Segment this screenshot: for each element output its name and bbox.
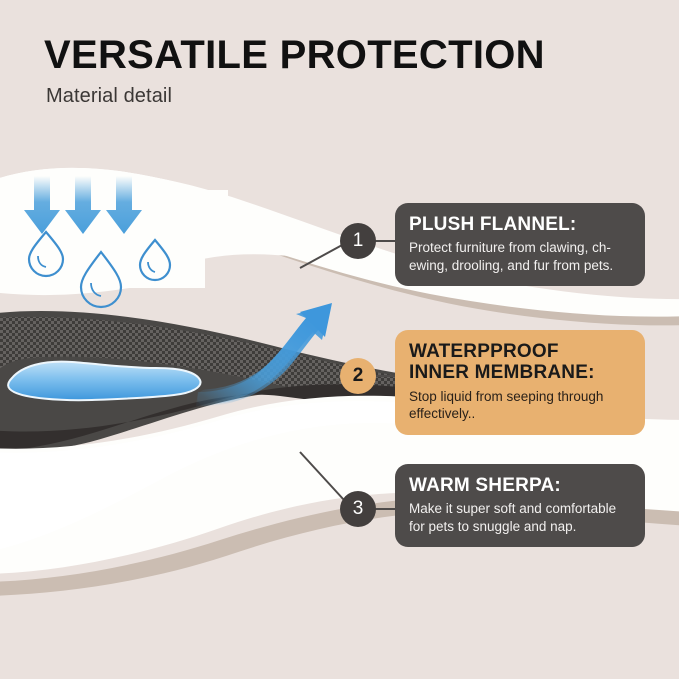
callout-body-2-line-2: effectively.. [409, 406, 475, 421]
step-badge-1[interactable]: 1 [340, 223, 376, 259]
callout-card-plush-flannel[interactable]: PLUSH FLANNEL: Protect furniture from cl… [395, 203, 645, 286]
callout-title-2-line-2: INNER MEMBRANE: [409, 362, 631, 383]
step-badge-2[interactable]: 2 [340, 358, 376, 394]
callout-title-2-line-1: WATERPPROOF [409, 341, 631, 362]
infographic-canvas: VERSATILE PROTECTION Material detail [0, 0, 679, 679]
callout-body-1: Protect furniture from clawing, ch- ewin… [409, 239, 631, 274]
callout-body-3-line-2: for pets to snuggle and nap. [409, 519, 576, 534]
callout-title-1: PLUSH FLANNEL: [409, 214, 631, 235]
water-down-arrows-group [24, 176, 142, 234]
step-badge-3[interactable]: 3 [340, 491, 376, 527]
callout-body-2: Stop liquid from seeping through effecti… [409, 388, 631, 423]
callout-title-2: WATERPPROOF INNER MEMBRANE: [409, 341, 631, 384]
callout-body-3-line-1: Make it super soft and comfortable [409, 501, 616, 516]
callout-card-warm-sherpa[interactable]: WARM SHERPA: Make it super soft and comf… [395, 464, 645, 547]
callout-title-3: WARM SHERPA: [409, 475, 631, 496]
callout-body-1-line-2: ewing, drooling, and fur from pets. [409, 258, 613, 273]
callout-body-2-line-1: Stop liquid from seeping through [409, 389, 603, 404]
callout-body-1-line-1: Protect furniture from clawing, ch- [409, 240, 611, 255]
callout-body-3: Make it super soft and comfortable for p… [409, 500, 631, 535]
callout-card-waterproof-membrane[interactable]: WATERPPROOF INNER MEMBRANE: Stop liquid … [395, 330, 645, 435]
